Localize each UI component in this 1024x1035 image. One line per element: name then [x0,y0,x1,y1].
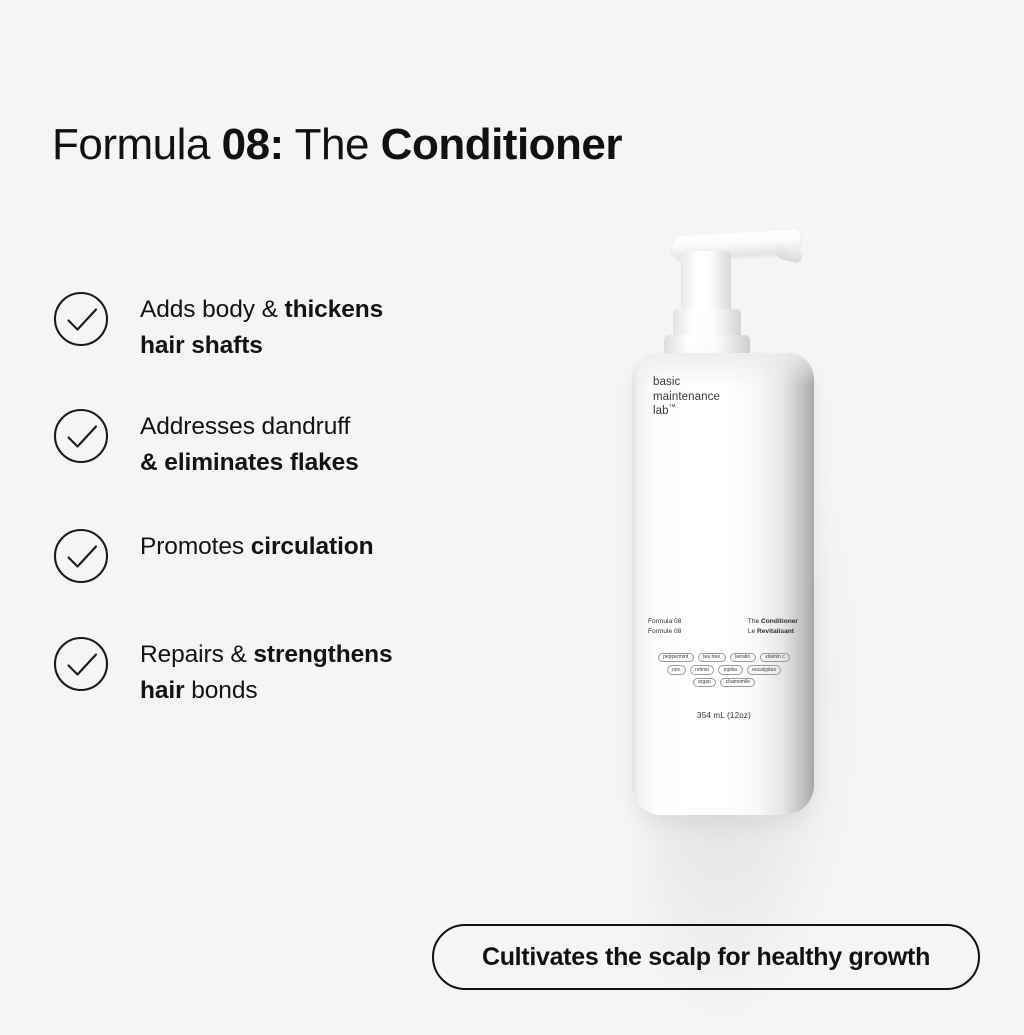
formula-fr: Formule 08 [648,627,681,637]
title-middle: The [284,120,381,169]
ingredient-pill: peppermint [658,653,694,662]
bottle-label-lines: Formula 08 Formule 08 The Conditioner Le… [648,617,798,637]
benefit-regular: Addresses dandruff [140,413,350,440]
tagline-banner: Cultivates the scalp for healthy growth [432,924,980,990]
brand-line-1: basic [653,375,720,390]
benefit-regular: Adds body & [140,296,285,323]
product-name-en-bold: Conditioner [761,618,798,625]
bottle-body [632,353,814,815]
check-circle-icon [52,527,110,585]
label-formula-block: Formula 08 Formule 08 [648,617,681,637]
ingredient-pill: chamomile [720,678,755,687]
ingredient-row: rice retinol jojoba eucalyptus [640,665,808,674]
tagline-text: Cultivates the scalp for healthy growth [482,943,930,972]
pump-neck [681,251,731,313]
ingredient-pill: eucalyptus [747,665,782,674]
ingredient-pill: jojoba [718,665,742,674]
trademark-symbol: ™ [669,405,676,412]
product-name-fr-prefix: Le [748,628,757,635]
brand-line-3-text: lab [653,405,669,417]
product-name-en: The Conditioner [748,617,798,627]
benefit-regular: Repairs & [140,641,253,668]
benefit-bold: strengthens [253,641,392,668]
ingredient-pill: keratin [730,653,756,662]
title-number: 08: [222,120,284,169]
bottle-brand-text: basic maintenance lab™ [653,375,720,419]
page-title: Formula 08: The Conditioner [52,121,622,169]
marketing-page: Formula 08: The Conditioner Adds body & … [0,0,1024,1024]
benefit-item: Promotes circulation [52,525,522,587]
benefit-bold: circulation [251,533,374,560]
ingredient-pill: argan [693,678,717,687]
benefit-text: Addresses dandruff& eliminates flakes [140,405,359,482]
ingredient-row: peppermint tea tree keratin vitamin c [640,653,808,662]
benefit-text: Repairs & strengthenshair bonds [140,633,393,710]
benefit-bold-2: hair [140,677,185,704]
benefit-text: Promotes circulation [140,525,374,565]
benefit-bold-2: hair shafts [140,332,263,359]
benefit-bold-2: & eliminates flakes [140,449,359,476]
product-name-fr-bold: Revitalisant [757,628,794,635]
product-name-fr: Le Revitalisant [748,627,798,637]
bottle-volume: 354 mL (12oz) [640,711,808,720]
product-bottle: basic maintenance lab™ Formula 08 Formul… [600,225,900,835]
ingredient-pill-rows: peppermint tea tree keratin vitamin c ri… [640,653,808,690]
label-name-block: The Conditioner Le Revitalisant [748,617,798,637]
ingredient-pill: rice [667,665,686,674]
benefit-regular-2: bonds [185,677,258,704]
ingredient-pill: retinol [690,665,715,674]
check-circle-icon [52,635,110,693]
benefit-bold: thickens [285,296,384,323]
benefits-list: Adds body & thickenshair shafts Addresse… [52,288,522,710]
brand-line-3: lab™ [653,404,720,419]
check-circle-icon [52,290,110,348]
formula-en: Formula 08 [648,617,681,627]
benefit-regular: Promotes [140,533,251,560]
ingredient-pill: vitamin c [760,653,791,662]
benefit-item: Repairs & strengthenshair bonds [52,633,522,710]
ingredient-pill: tea tree [698,653,726,662]
title-product: Conditioner [381,120,622,169]
product-name-en-prefix: The [748,618,761,625]
ingredient-row: argan chamomile [640,678,808,687]
title-prefix: Formula [52,120,222,169]
check-circle-icon [52,407,110,465]
benefit-item: Addresses dandruff& eliminates flakes [52,405,522,482]
benefit-item: Adds body & thickenshair shafts [52,288,522,365]
brand-line-2: maintenance [653,390,720,405]
benefit-text: Adds body & thickenshair shafts [140,288,383,365]
